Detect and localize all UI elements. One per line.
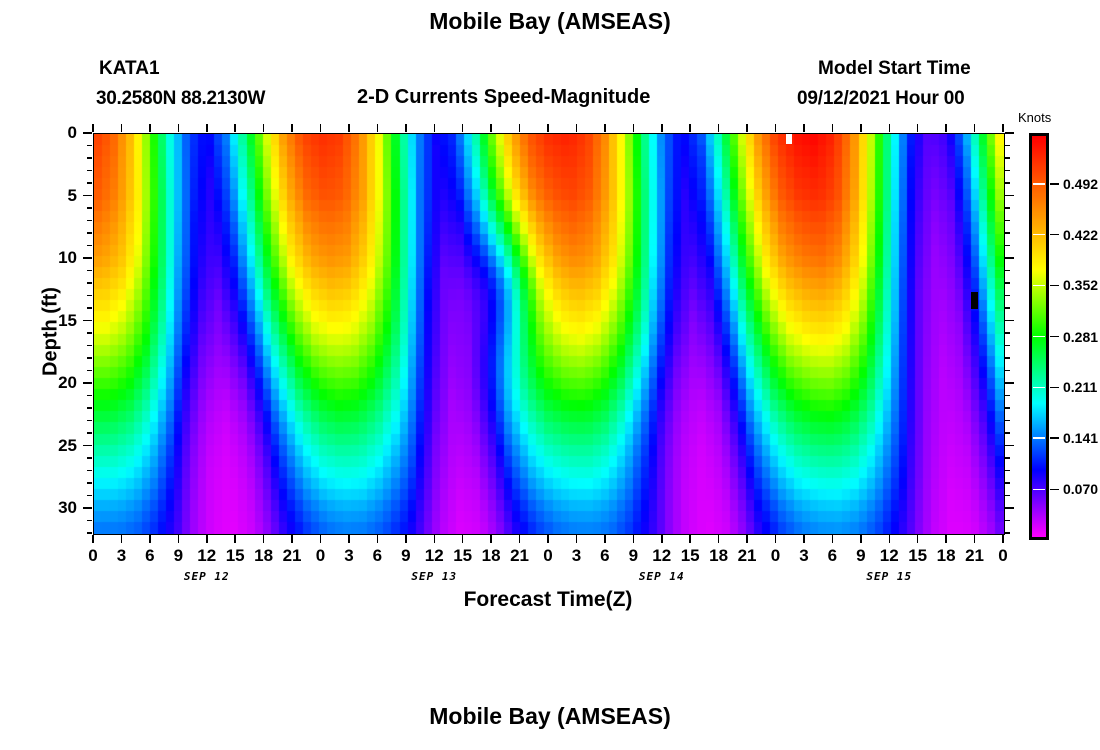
colorbar-tick	[1050, 336, 1059, 338]
y-tick-major	[83, 195, 92, 197]
y-tick-right	[1005, 395, 1010, 397]
x-tick-top	[149, 124, 151, 132]
colorbar-tick-inner	[1033, 437, 1045, 439]
y-axis-title: Depth (ft)	[40, 252, 63, 412]
x-tick	[945, 535, 947, 543]
y-tick-minor	[87, 207, 92, 209]
y-tick-minor	[87, 270, 92, 272]
x-tick-top	[746, 124, 748, 132]
x-tick	[661, 535, 663, 543]
colorbar-tick	[1050, 285, 1059, 287]
y-tick-major	[83, 445, 92, 447]
x-tick	[689, 535, 691, 543]
y-tick-major	[83, 320, 92, 322]
x-tick-top	[803, 124, 805, 132]
colorbar-tick-inner	[1033, 387, 1045, 389]
colorbar-tick	[1050, 489, 1059, 491]
x-tick	[149, 535, 151, 543]
y-tick-minor	[87, 420, 92, 422]
y-tick-label: 30	[37, 499, 77, 516]
y-tick-right	[1005, 507, 1014, 509]
x-tick-top	[718, 124, 720, 132]
y-tick-right	[1005, 195, 1014, 197]
x-tick-top	[917, 124, 919, 132]
y-tick-right	[1005, 220, 1010, 222]
plot-subtitle: 2-D Currents Speed-Magnitude	[357, 86, 650, 109]
x-tick	[178, 535, 180, 543]
colorbar-tick-inner	[1033, 336, 1045, 338]
x-tick	[889, 535, 891, 543]
y-tick-right	[1005, 245, 1010, 247]
y-tick-right	[1005, 282, 1010, 284]
x-tick	[434, 535, 436, 543]
y-tick-right	[1005, 307, 1010, 309]
footer-title: Mobile Bay (AMSEAS)	[0, 703, 1100, 730]
y-tick-minor	[87, 470, 92, 472]
model-start-time-value: 09/12/2021 Hour 00	[797, 88, 965, 110]
colorbar-tick-label: 0.492	[1063, 176, 1098, 192]
colorbar-tick-inner	[1033, 489, 1045, 491]
x-tick-top	[576, 124, 578, 132]
colorbar-tick-inner	[1033, 234, 1045, 236]
y-tick-right	[1005, 382, 1014, 384]
y-tick-minor	[87, 157, 92, 159]
colorbar-tick-label: 0.352	[1063, 277, 1098, 293]
page-title: Mobile Bay (AMSEAS)	[0, 8, 1100, 35]
x-tick	[234, 535, 236, 543]
x-tick	[860, 535, 862, 543]
y-tick-right	[1005, 257, 1014, 259]
y-tick-right	[1005, 357, 1010, 359]
y-tick-minor	[87, 170, 92, 172]
x-tick-top	[832, 124, 834, 132]
y-tick-minor	[87, 357, 92, 359]
x-tick-top	[348, 124, 350, 132]
x-tick-top	[320, 124, 322, 132]
colorbar-tick-inner	[1033, 183, 1045, 185]
x-tick	[206, 535, 208, 543]
y-tick-right	[1005, 295, 1010, 297]
x-tick-top	[178, 124, 180, 132]
x-tick-top	[291, 124, 293, 132]
x-tick-top	[490, 124, 492, 132]
x-tick	[405, 535, 407, 543]
y-tick-right	[1005, 407, 1010, 409]
x-tick-top	[263, 124, 265, 132]
y-tick-right	[1005, 207, 1010, 209]
y-tick-minor	[87, 370, 92, 372]
y-tick-right	[1005, 157, 1010, 159]
colorbar-tick	[1050, 234, 1059, 236]
x-tick	[718, 535, 720, 543]
heatmap-plot-area	[93, 133, 1005, 535]
colorbar-tick-label: 0.211	[1063, 379, 1097, 395]
x-tick	[377, 535, 379, 543]
colorbar-tick	[1050, 183, 1059, 185]
y-tick-label: 5	[37, 187, 77, 204]
x-tick	[746, 535, 748, 543]
y-tick-right	[1005, 320, 1014, 322]
colorbar-tick-label: 0.281	[1063, 329, 1098, 345]
y-tick-right	[1005, 170, 1010, 172]
y-tick-right	[1005, 432, 1010, 434]
x-tick-top	[234, 124, 236, 132]
y-tick-right	[1005, 445, 1014, 447]
x-tick	[832, 535, 834, 543]
x-tick	[348, 535, 350, 543]
y-tick-minor	[87, 182, 92, 184]
currents-speed-heatmap	[94, 134, 1004, 534]
y-tick-right	[1005, 532, 1010, 534]
colorbar-tick-label: 0.070	[1063, 481, 1098, 497]
x-tick	[604, 535, 606, 543]
y-tick-right	[1005, 132, 1014, 134]
x-axis-title: Forecast Time(Z)	[93, 588, 1003, 612]
x-tick-top	[661, 124, 663, 132]
x-tick	[775, 535, 777, 543]
x-tick-top	[405, 124, 407, 132]
x-tick	[974, 535, 976, 543]
y-tick-minor	[87, 145, 92, 147]
x-tick-top	[519, 124, 521, 132]
x-tick-top	[860, 124, 862, 132]
x-tick	[490, 535, 492, 543]
x-tick-top	[434, 124, 436, 132]
x-tick-top	[775, 124, 777, 132]
y-tick-minor	[87, 245, 92, 247]
x-tick-top	[633, 124, 635, 132]
x-tick	[803, 535, 805, 543]
y-tick-minor	[87, 232, 92, 234]
x-tick	[92, 535, 94, 543]
y-tick-label: 25	[37, 437, 77, 454]
y-tick-minor	[87, 282, 92, 284]
y-tick-right	[1005, 470, 1010, 472]
station-coordinates-label: 30.2580N 88.2130W	[96, 88, 265, 110]
colorbar-tick-label: 0.422	[1063, 227, 1098, 243]
x-tick-top	[92, 124, 94, 132]
y-tick-right	[1005, 520, 1010, 522]
station-id-label: KATA1	[99, 58, 160, 80]
y-tick-right	[1005, 420, 1010, 422]
y-tick-label: 0	[37, 124, 77, 141]
colorbar-tick-label: 0.141	[1063, 430, 1098, 446]
x-tick	[320, 535, 322, 543]
y-tick-minor	[87, 532, 92, 534]
x-tick-label: 0	[983, 547, 1023, 564]
y-tick-right	[1005, 482, 1010, 484]
y-tick-minor	[87, 332, 92, 334]
x-tick-top	[206, 124, 208, 132]
y-tick-major	[83, 382, 92, 384]
colorbar-tick-inner	[1033, 285, 1045, 287]
model-start-time-label: Model Start Time	[818, 58, 971, 80]
x-tick	[917, 535, 919, 543]
x-tick-top	[974, 124, 976, 132]
x-tick-top	[889, 124, 891, 132]
x-tick	[547, 535, 549, 543]
y-tick-right	[1005, 270, 1010, 272]
y-tick-minor	[87, 220, 92, 222]
y-tick-right	[1005, 332, 1010, 334]
x-tick-top	[377, 124, 379, 132]
x-tick-top	[462, 124, 464, 132]
y-tick-minor	[87, 295, 92, 297]
y-tick-right	[1005, 370, 1010, 372]
colorbar-tick	[1050, 387, 1059, 389]
y-tick-major	[83, 257, 92, 259]
x-day-label: SEP 13	[389, 570, 479, 583]
y-tick-minor	[87, 345, 92, 347]
x-tick-top	[689, 124, 691, 132]
x-tick	[263, 535, 265, 543]
x-tick	[633, 535, 635, 543]
x-tick	[519, 535, 521, 543]
y-tick-right	[1005, 495, 1010, 497]
y-tick-minor	[87, 520, 92, 522]
y-tick-minor	[87, 482, 92, 484]
colorbar-tick	[1050, 437, 1059, 439]
x-tick-top	[1002, 124, 1004, 132]
y-tick-minor	[87, 307, 92, 309]
y-tick-right	[1005, 145, 1010, 147]
x-tick	[1002, 535, 1004, 543]
y-tick-right	[1005, 182, 1010, 184]
y-tick-right	[1005, 232, 1010, 234]
x-tick-top	[547, 124, 549, 132]
x-tick	[121, 535, 123, 543]
x-tick	[462, 535, 464, 543]
colorbar-unit-label: Knots	[1018, 110, 1051, 125]
x-day-label: SEP 12	[162, 570, 252, 583]
y-tick-minor	[87, 395, 92, 397]
y-tick-minor	[87, 457, 92, 459]
y-tick-right	[1005, 345, 1010, 347]
x-day-label: SEP 14	[617, 570, 707, 583]
y-tick-minor	[87, 432, 92, 434]
y-tick-minor	[87, 407, 92, 409]
x-tick-top	[121, 124, 123, 132]
y-tick-minor	[87, 495, 92, 497]
x-tick-top	[945, 124, 947, 132]
x-tick-top	[604, 124, 606, 132]
x-day-label: SEP 15	[844, 570, 934, 583]
y-tick-major	[83, 507, 92, 509]
x-tick	[291, 535, 293, 543]
y-tick-major	[83, 132, 92, 134]
y-tick-right	[1005, 457, 1010, 459]
x-tick	[576, 535, 578, 543]
